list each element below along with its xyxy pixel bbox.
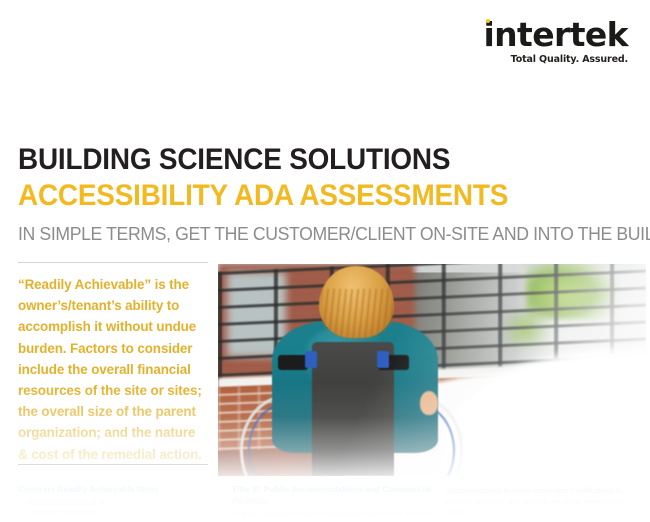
photo-hand-on-wheel	[420, 391, 438, 414]
photo-hair-strands	[321, 289, 393, 340]
list-item: entrance to designate	[27, 508, 218, 519]
intertek-logo: intertek Total Quality. Assured.	[483, 18, 628, 65]
photo-push-handle-left	[305, 351, 318, 368]
photo-armrest-left	[278, 355, 309, 370]
callout-rule-bottom	[18, 464, 208, 465]
callout-text: “Readily Achievable” is the owner’s/tena…	[18, 274, 208, 465]
bottom-column-2: Title III: Public Accommodations and Com…	[232, 484, 432, 520]
bottom-column-1: Common Readily Achievable Items Removing…	[18, 484, 218, 520]
photo-scene	[218, 264, 646, 476]
bottom-column-1-list: Removing signage at an entrance to desig…	[27, 498, 218, 519]
list-item: Removing signage at an	[27, 498, 218, 509]
bottom-columns: Common Readily Achievable Items Removing…	[18, 484, 636, 520]
hero-photo	[218, 264, 646, 476]
page-title-primary: BUILDING SCIENCE SOLUTIONS	[18, 142, 593, 178]
photo-push-handle-right	[377, 351, 390, 368]
title-block: BUILDING SCIENCE SOLUTIONS ACCESSIBILITY…	[18, 142, 636, 245]
bottom-column-2-body: Requires places of public accommodation …	[232, 509, 432, 520]
bottom-column-1-heading: Common Readily Achievable Items	[18, 484, 218, 496]
bottom-column-2-heading: Title III: Public Accommodations and Com…	[232, 484, 432, 507]
photo-person-in-wheelchair	[265, 264, 445, 476]
bottom-column-3: accommodations to make reasonable modifi…	[446, 484, 636, 520]
logo-word-text: intertek	[483, 15, 628, 54]
logo-tagline: Total Quality. Assured.	[483, 55, 628, 65]
callout-block: “Readily Achievable” is the owner’s/tena…	[18, 262, 208, 465]
callout-rule-top	[18, 262, 208, 263]
page-header: intertek Total Quality. Assured.	[0, 0, 650, 120]
logo-wordmark: intertek	[483, 18, 628, 51]
page-title-secondary: ACCESSIBILITY ADA ASSESSMENTS	[18, 178, 593, 214]
bottom-column-3-body: accommodations to make reasonable modifi…	[446, 486, 636, 518]
page-tagline: IN SIMPLE TERMS, GET THE CUSTOMER/CLIENT…	[18, 223, 608, 245]
